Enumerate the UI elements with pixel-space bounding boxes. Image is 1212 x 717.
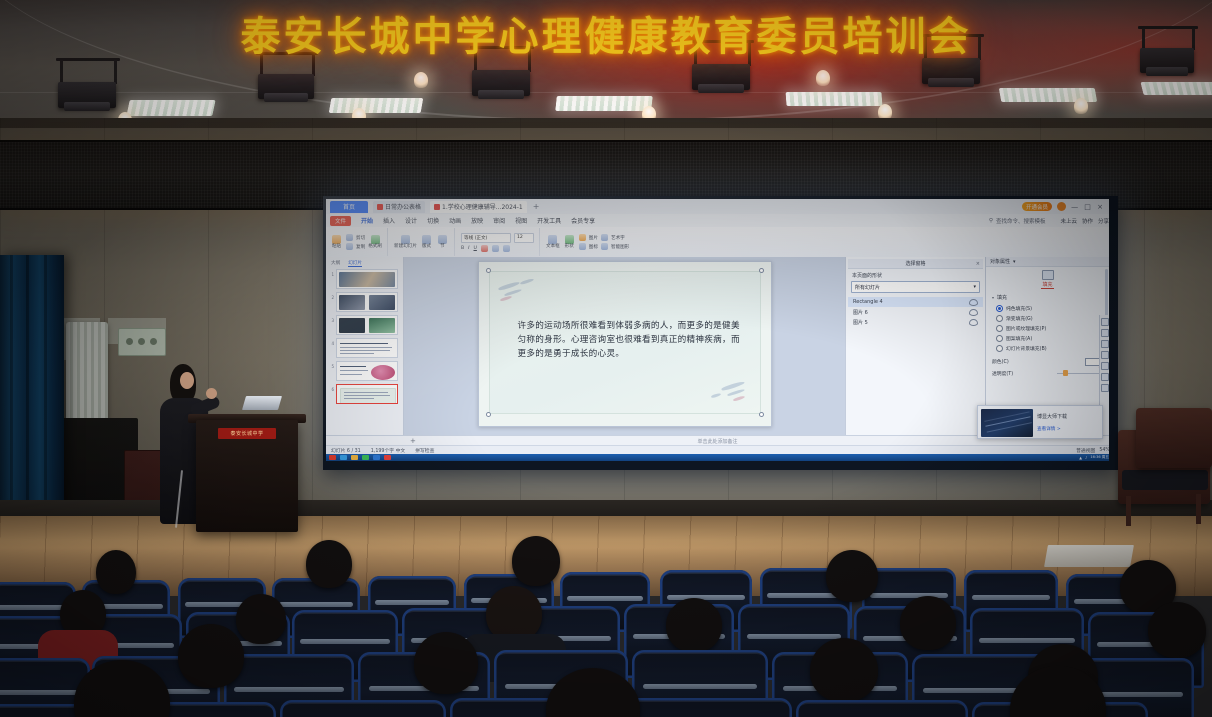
audience-head bbox=[826, 550, 878, 602]
ceiling-panel-light bbox=[1140, 82, 1212, 95]
stage-armchair bbox=[1136, 408, 1212, 468]
speaker-hand bbox=[206, 388, 217, 399]
audience-head bbox=[900, 596, 956, 650]
audience-head bbox=[666, 598, 722, 652]
audience-head bbox=[178, 624, 244, 688]
audience-head bbox=[810, 638, 878, 702]
auditorium-seat bbox=[622, 698, 792, 717]
audience-head bbox=[414, 632, 478, 694]
led-banner-text: 泰安长城中学心理健康教育委员培训会 bbox=[0, 0, 1212, 66]
audience-head bbox=[1148, 602, 1206, 658]
podium-laptop bbox=[242, 396, 282, 410]
podium-sign: 泰安长城中学 bbox=[218, 428, 276, 439]
auditorium-scene: 泰安长城中学心理健康教育委员培训会 首页 日常办公表格 1.学校心理健康辅导..… bbox=[0, 0, 1212, 717]
audience-area bbox=[0, 508, 1212, 717]
ceiling-panel-light bbox=[126, 100, 215, 116]
audience-head bbox=[236, 594, 286, 644]
auditorium-seat bbox=[280, 700, 446, 717]
ceiling-downlight bbox=[816, 70, 830, 86]
ceiling-downlight bbox=[414, 72, 428, 88]
audience-head bbox=[306, 540, 352, 588]
audience-head bbox=[512, 536, 560, 586]
ceiling-panel-light bbox=[555, 96, 653, 111]
audience-head bbox=[96, 550, 136, 594]
stage-armchair-seat bbox=[1122, 470, 1208, 490]
speaker-face bbox=[180, 372, 194, 389]
auditorium-seat bbox=[796, 700, 968, 717]
ceiling-panel-light bbox=[786, 92, 883, 106]
ceiling-downlight bbox=[1074, 98, 1088, 114]
ceiling-panel-light bbox=[329, 98, 424, 113]
